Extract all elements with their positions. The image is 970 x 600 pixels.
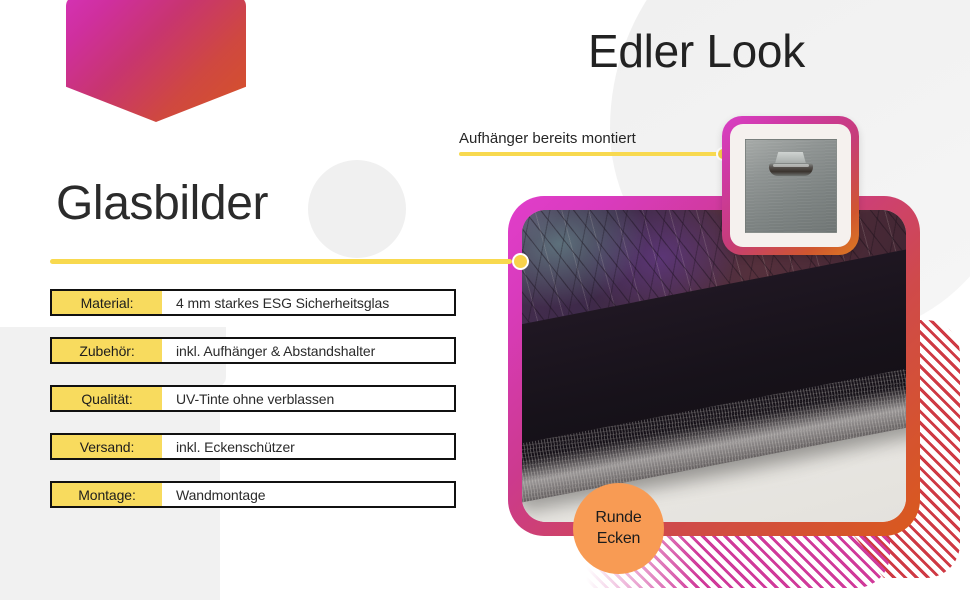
product-photo: [522, 210, 906, 522]
spec-value: Wandmontage: [162, 483, 454, 506]
connector-line-main: [50, 259, 512, 264]
spec-key: Montage:: [52, 483, 162, 506]
connector-dot-main: [512, 253, 529, 270]
hanger-detail-inner-frame: [730, 124, 851, 247]
table-row: Qualität: UV-Tinte ohne verblassen: [50, 385, 456, 412]
spec-key: Zubehör:: [52, 339, 162, 362]
hanger-detail-card: [722, 116, 859, 255]
hanger-bracket-shine: [773, 164, 809, 167]
badge-label-line2: Ecken: [597, 530, 640, 548]
spec-table: Material: 4 mm starkes ESG Sicherheitsgl…: [50, 289, 456, 529]
hanger-bracket-shape: [769, 152, 813, 178]
background-circle-behind-title: [308, 160, 406, 258]
product-infographic: Glasbilder Edler Look Aufhänger bereits …: [0, 0, 970, 600]
feature-title: Edler Look: [588, 24, 805, 78]
shield-banner-icon: [66, 0, 246, 122]
spec-key: Qualität:: [52, 387, 162, 410]
connector-line-hanger: [459, 152, 722, 156]
table-row: Zubehör: inkl. Aufhänger & Abstandshalte…: [50, 337, 456, 364]
callout-label-hanger: Aufhänger bereits montiert: [459, 130, 636, 147]
spec-value: inkl. Eckenschützer: [162, 435, 454, 458]
table-row: Versand: inkl. Eckenschützer: [50, 433, 456, 460]
spec-value: UV-Tinte ohne verblassen: [162, 387, 454, 410]
product-photo-frame: [508, 196, 920, 536]
status-badge-runde-ecken: Runde Ecken: [573, 483, 664, 574]
spec-value: inkl. Aufhänger & Abstandshalter: [162, 339, 454, 362]
spec-key: Versand:: [52, 435, 162, 458]
spec-key: Material:: [52, 291, 162, 314]
page-title: Glasbilder: [56, 176, 268, 231]
wall-hanger-bracket-icon: [745, 139, 837, 233]
table-row: Material: 4 mm starkes ESG Sicherheitsgl…: [50, 289, 456, 316]
table-row: Montage: Wandmontage: [50, 481, 456, 508]
badge-label-line1: Runde: [595, 509, 641, 527]
spec-value: 4 mm starkes ESG Sicherheitsglas: [162, 291, 454, 314]
